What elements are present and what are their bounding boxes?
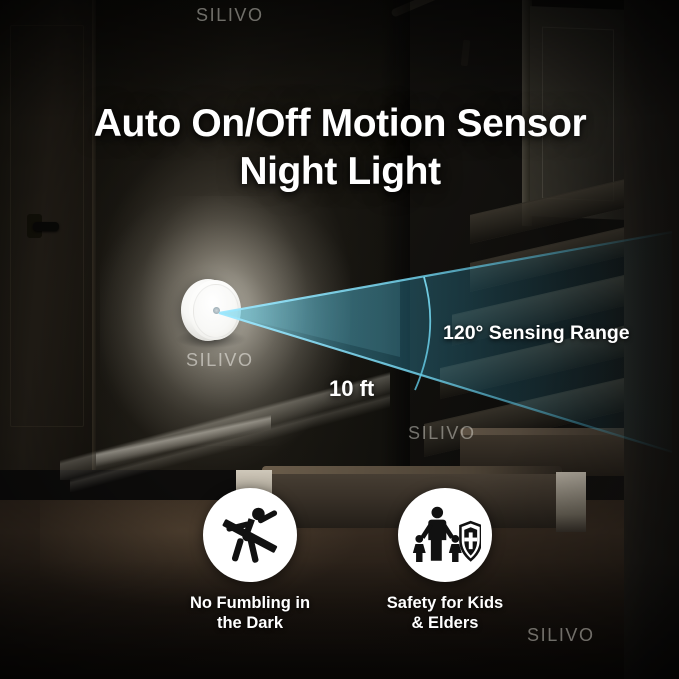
- door-handle: [33, 222, 59, 231]
- feature-caption: Safety for Kids & Elders: [365, 593, 525, 633]
- baseboard-trim-right: [556, 472, 586, 532]
- sensing-range-label: 120° Sensing Range: [443, 322, 630, 345]
- feature-safety-kids-elders: Safety for Kids & Elders: [365, 488, 525, 633]
- feature-caption-line-1: Safety for Kids: [365, 593, 525, 613]
- lamp-sensor-dot: [213, 307, 220, 314]
- feature-no-fumbling: No Fumbling in the Dark: [170, 488, 330, 633]
- headline-line-2: Night Light: [60, 148, 620, 196]
- motion-sensor-light[interactable]: [181, 279, 241, 341]
- feature-icon-badge: [203, 488, 297, 582]
- headline-line-1: Auto On/Off Motion Sensor: [60, 100, 620, 148]
- page-title: Auto On/Off Motion Sensor Night Light: [60, 100, 620, 195]
- feature-caption-line-2: & Elders: [365, 613, 525, 633]
- feature-icon-badge: [398, 488, 492, 582]
- person-tripping-icon: [215, 500, 285, 570]
- feature-caption: No Fumbling in the Dark: [170, 593, 330, 633]
- distance-label: 10 ft: [329, 376, 374, 402]
- family-shield-icon: [409, 502, 481, 568]
- right-wall-column: [624, 0, 679, 679]
- product-marketing-image: Auto On/Off Motion Sensor Night Light 12…: [0, 0, 679, 679]
- feature-caption-line-1: No Fumbling in: [170, 593, 330, 613]
- feature-caption-line-2: the Dark: [170, 613, 330, 633]
